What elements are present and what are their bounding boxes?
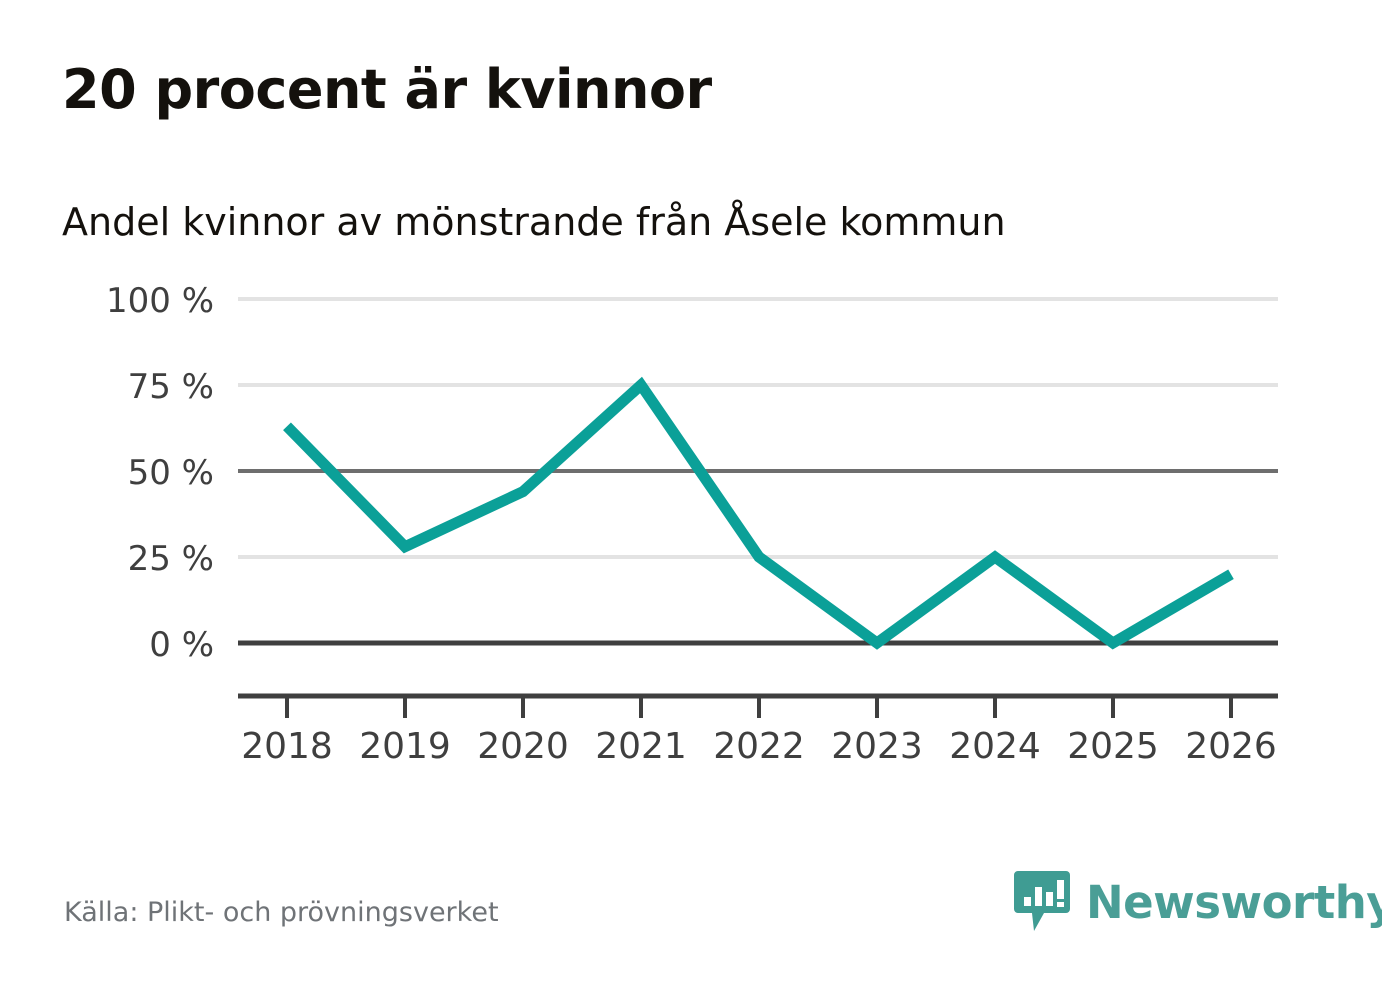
x-tick-label-2019: 2019: [359, 726, 451, 767]
x-tick-label-2026: 2026: [1185, 726, 1277, 767]
y-axis-labels: 100 % 75 % 50 % 25 % 0 %: [106, 281, 214, 665]
y-tick-label-0: 0 %: [149, 625, 214, 665]
line-chart: 100 % 75 % 50 % 25 % 0 % 2: [0, 0, 1382, 999]
y-tick-label-50: 50 %: [128, 453, 214, 493]
newsworthy-bar-chart-bubble-icon: [1012, 869, 1072, 935]
x-tick-label-2021: 2021: [595, 726, 687, 767]
y-tick-label-25: 25 %: [128, 539, 214, 579]
newsworthy-logo: Newsworthy: [1012, 869, 1382, 935]
x-tick-label-2024: 2024: [949, 726, 1041, 767]
data-series-line: [287, 385, 1231, 643]
x-tick-label-2025: 2025: [1067, 726, 1159, 767]
source-note: Källa: Plikt- och prövningsverket: [64, 897, 499, 928]
gridlines: [238, 299, 1278, 643]
x-tick-label-2022: 2022: [713, 726, 805, 767]
x-axis: [238, 696, 1278, 718]
x-axis-labels: 2018 2019 2020 2021 2022 2023 2024 2025 …: [241, 726, 1277, 767]
x-tick-label-2023: 2023: [831, 726, 923, 767]
newsworthy-wordmark: Newsworthy: [1086, 880, 1382, 925]
chart-page: 20 procent är kvinnor Andel kvinnor av m…: [0, 0, 1382, 999]
x-tick-label-2018: 2018: [241, 726, 333, 767]
x-tick-label-2020: 2020: [477, 726, 569, 767]
y-tick-label-100: 100 %: [106, 281, 214, 321]
y-tick-label-75: 75 %: [128, 367, 214, 407]
